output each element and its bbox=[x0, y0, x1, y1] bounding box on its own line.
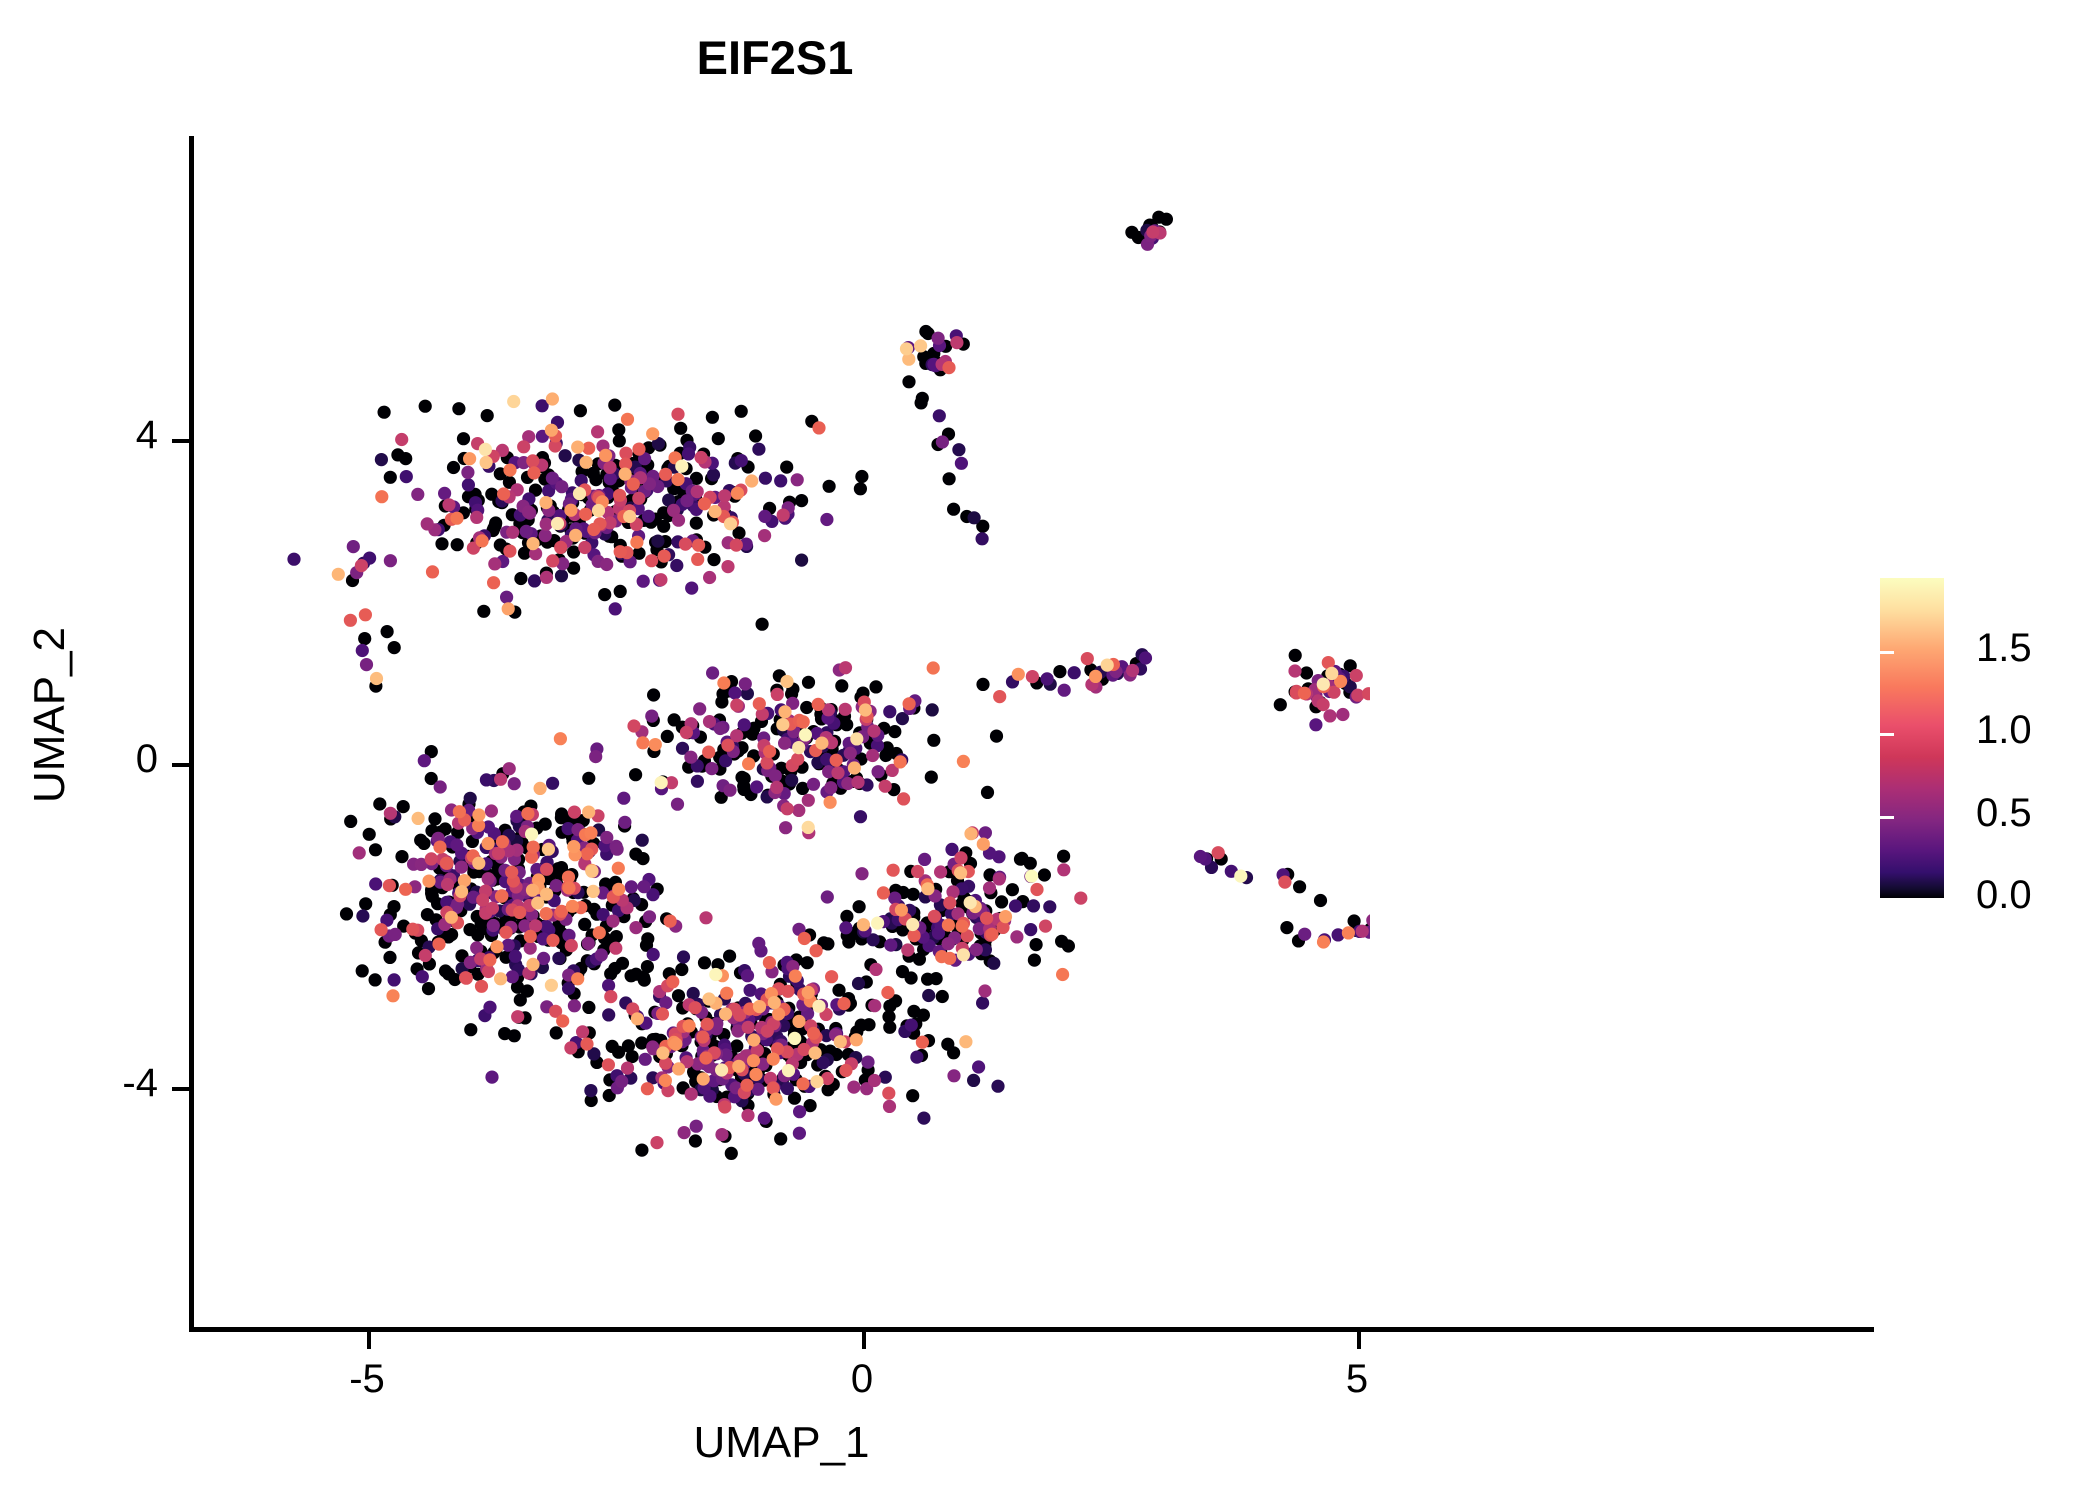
scatter-point bbox=[419, 949, 432, 962]
scatter-point bbox=[1342, 926, 1355, 939]
scatter-point bbox=[462, 478, 475, 491]
scatter-point bbox=[638, 974, 651, 987]
scatter-point bbox=[645, 710, 658, 723]
scatter-point bbox=[508, 777, 521, 790]
scatter-point bbox=[978, 984, 991, 997]
scatter-point bbox=[760, 756, 773, 769]
scatter-point bbox=[1074, 892, 1087, 905]
scatter-point bbox=[497, 487, 510, 500]
scatter-point bbox=[470, 511, 483, 524]
scatter-point bbox=[1125, 226, 1138, 239]
scatter-point bbox=[573, 487, 586, 500]
scatter-point bbox=[492, 847, 505, 860]
scatter-point bbox=[921, 973, 934, 986]
scatter-point bbox=[631, 1012, 644, 1025]
scatter-point bbox=[916, 392, 929, 405]
scatter-point bbox=[1298, 928, 1311, 941]
scatter-point bbox=[979, 826, 992, 839]
scatter-point bbox=[439, 964, 452, 977]
scatter-point bbox=[993, 872, 1006, 885]
scatter-point bbox=[612, 883, 625, 896]
scatter-point bbox=[675, 460, 688, 473]
scatter-point bbox=[503, 464, 516, 477]
scatter-point bbox=[450, 838, 463, 851]
scatter-point bbox=[745, 474, 758, 487]
scatter-point bbox=[440, 857, 453, 870]
scatter-point bbox=[539, 529, 552, 542]
scatter-point bbox=[993, 690, 1006, 703]
scatter-point bbox=[580, 1037, 593, 1050]
scatter-point bbox=[527, 841, 540, 854]
scatter-point bbox=[820, 513, 833, 526]
scatter-point bbox=[574, 404, 587, 417]
scatter-point bbox=[383, 951, 396, 964]
scatter-point bbox=[1139, 651, 1152, 664]
scatter-point bbox=[1234, 870, 1247, 883]
scatter-point bbox=[795, 554, 808, 567]
scatter-point bbox=[347, 540, 360, 553]
scatter-point bbox=[1356, 925, 1369, 938]
scatter-point bbox=[954, 866, 967, 879]
scatter-point bbox=[568, 999, 581, 1012]
scatter-point bbox=[668, 713, 681, 726]
scatter-point bbox=[550, 1026, 563, 1039]
scatter-point bbox=[901, 943, 914, 956]
scatter-point bbox=[731, 487, 744, 500]
scatter-point bbox=[824, 781, 837, 794]
scatter-point bbox=[603, 461, 616, 474]
scatter-point bbox=[458, 874, 471, 887]
scatter-point bbox=[641, 1082, 654, 1095]
scatter-point bbox=[656, 1046, 669, 1059]
scatter-point bbox=[810, 944, 823, 957]
scatter-point bbox=[657, 520, 670, 533]
scatter-point bbox=[476, 534, 489, 547]
y-tick-label: -4 bbox=[0, 1061, 158, 1106]
scatter-point bbox=[1041, 672, 1054, 685]
scatter-point bbox=[373, 797, 386, 810]
scatter-point bbox=[495, 890, 508, 903]
scatter-point bbox=[522, 505, 535, 518]
scatter-point bbox=[730, 539, 743, 552]
scatter-point bbox=[752, 937, 765, 950]
scatter-point bbox=[1317, 678, 1330, 691]
scatter-point bbox=[587, 885, 600, 898]
scatter-point bbox=[758, 510, 771, 523]
y-tick-mark bbox=[172, 439, 189, 443]
scatter-point bbox=[617, 792, 630, 805]
scatter-point bbox=[556, 1014, 569, 1027]
scatter-point bbox=[921, 882, 934, 895]
scatter-point bbox=[582, 806, 595, 819]
scatter-point bbox=[990, 730, 1003, 743]
scatter-point bbox=[774, 474, 787, 487]
scatter-point bbox=[540, 863, 553, 876]
scatter-point bbox=[360, 658, 373, 671]
scatter-point bbox=[758, 529, 771, 542]
scatter-point bbox=[954, 851, 967, 864]
scatter-point bbox=[706, 666, 719, 679]
scatter-point bbox=[490, 940, 503, 953]
scatter-point bbox=[1012, 668, 1025, 681]
scatter-point bbox=[735, 771, 748, 784]
colorbar-tick-mark bbox=[1880, 651, 1894, 654]
scatter-point bbox=[685, 582, 698, 595]
scatter-point bbox=[719, 1007, 732, 1020]
scatter-point bbox=[699, 911, 712, 924]
scatter-point bbox=[791, 473, 804, 486]
scatter-point bbox=[539, 496, 552, 509]
scatter-point bbox=[692, 539, 705, 552]
scatter-point bbox=[895, 903, 908, 916]
scatter-point bbox=[610, 930, 623, 943]
scatter-point bbox=[384, 554, 397, 567]
scatter-point bbox=[650, 1136, 663, 1149]
scatter-point bbox=[480, 456, 493, 469]
scatter-point bbox=[995, 895, 1008, 908]
scatter-point bbox=[934, 865, 947, 878]
scatter-point bbox=[911, 865, 924, 878]
scatter-point bbox=[821, 890, 834, 903]
scatter-point bbox=[987, 957, 1000, 970]
scatter-point bbox=[428, 812, 441, 825]
scatter-point bbox=[1325, 667, 1338, 680]
scatter-point bbox=[554, 732, 567, 745]
scatter-point bbox=[659, 996, 672, 1009]
scatter-point bbox=[521, 807, 534, 820]
scatter-point bbox=[629, 848, 642, 861]
scatter-point bbox=[670, 559, 683, 572]
scatter-point bbox=[955, 457, 968, 470]
scatter-point bbox=[1317, 935, 1330, 948]
scatter-point bbox=[919, 325, 932, 338]
scatter-point bbox=[999, 910, 1012, 923]
scatter-point bbox=[855, 470, 868, 483]
scatter-point bbox=[1057, 863, 1070, 876]
scatter-point bbox=[720, 987, 733, 1000]
scatter-point bbox=[611, 843, 624, 856]
colorbar-tick-label: 0.0 bbox=[1976, 873, 2032, 918]
scatter-point bbox=[1089, 670, 1102, 683]
scatter-point bbox=[964, 827, 977, 840]
scatter-point bbox=[981, 786, 994, 799]
scatter-point bbox=[546, 934, 559, 947]
scatter-point bbox=[629, 768, 642, 781]
scatter-point bbox=[510, 810, 523, 823]
scatter-point bbox=[715, 1128, 728, 1141]
scatter-point bbox=[881, 986, 894, 999]
scatter-point bbox=[1317, 698, 1330, 711]
scatter-point bbox=[636, 834, 649, 847]
scatter-point bbox=[1038, 868, 1051, 881]
scatter-point bbox=[725, 1147, 738, 1160]
scatter-point bbox=[388, 973, 401, 986]
scatter-point bbox=[778, 737, 791, 750]
scatter-point bbox=[602, 979, 615, 992]
scatter-point bbox=[879, 780, 892, 793]
scatter-point bbox=[432, 938, 445, 951]
scatter-point bbox=[604, 967, 617, 980]
scatter-point bbox=[802, 986, 815, 999]
scatter-point bbox=[566, 900, 579, 913]
scatter-point bbox=[791, 753, 804, 766]
scatter-point bbox=[952, 443, 965, 456]
scatter-point bbox=[866, 749, 879, 762]
scatter-point bbox=[698, 956, 711, 969]
scatter-point bbox=[770, 781, 783, 794]
scatter-point bbox=[763, 745, 776, 758]
scatter-point bbox=[807, 778, 820, 791]
scatter-point bbox=[792, 1015, 805, 1028]
scatter-point bbox=[616, 957, 629, 970]
x-tick-label: 5 bbox=[1277, 1357, 1437, 1402]
scatter-point bbox=[723, 950, 736, 963]
scatter-point bbox=[477, 605, 490, 618]
scatter-point bbox=[472, 808, 485, 821]
scatter-point bbox=[861, 1056, 874, 1069]
scatter-point bbox=[749, 1068, 762, 1081]
scatter-point bbox=[604, 990, 617, 1003]
scatter-point bbox=[659, 468, 672, 481]
scatter-point bbox=[1055, 935, 1068, 948]
scatter-point bbox=[708, 505, 721, 518]
scatter-point bbox=[802, 794, 815, 807]
scatter-point bbox=[528, 574, 541, 587]
scatter-point bbox=[834, 1035, 847, 1048]
scatter-point bbox=[777, 509, 790, 522]
scatter-point bbox=[406, 923, 419, 936]
scatter-point bbox=[353, 846, 366, 859]
scatter-point bbox=[848, 761, 861, 774]
scatter-point bbox=[600, 831, 613, 844]
scatter-point bbox=[718, 1100, 731, 1113]
scatter-point bbox=[517, 440, 530, 453]
scatter-point bbox=[581, 847, 594, 860]
scatter-point bbox=[1043, 900, 1056, 913]
scatter-point bbox=[487, 576, 500, 589]
scatter-point bbox=[738, 718, 751, 731]
scatter-point bbox=[724, 517, 737, 530]
scatter-point bbox=[914, 339, 927, 352]
scatter-point bbox=[897, 792, 910, 805]
scatter-point bbox=[771, 688, 784, 701]
scatter-point bbox=[807, 1027, 820, 1040]
scatter-point bbox=[671, 473, 684, 486]
scatter-point bbox=[356, 909, 369, 922]
scatter-point bbox=[795, 494, 808, 507]
scatter-point bbox=[749, 429, 762, 442]
scatter-point bbox=[400, 470, 413, 483]
scatter-point bbox=[418, 754, 431, 767]
scatter-point bbox=[540, 907, 553, 920]
scatter-point bbox=[772, 1007, 785, 1020]
scatter-point bbox=[344, 614, 357, 627]
scatter-point bbox=[1026, 670, 1039, 683]
scatter-point bbox=[835, 679, 848, 692]
scatter-point bbox=[922, 989, 935, 1002]
scatter-point bbox=[717, 676, 730, 689]
colorbar-tick-label: 1.0 bbox=[1976, 708, 2032, 753]
scatter-point bbox=[1101, 659, 1114, 672]
scatter-point bbox=[1010, 930, 1023, 943]
scatter-point bbox=[942, 937, 955, 950]
scatter-point bbox=[840, 910, 853, 923]
scatter-point bbox=[900, 342, 913, 355]
scatter-point bbox=[369, 843, 382, 856]
scatter-point bbox=[942, 361, 955, 374]
scatter-point bbox=[1057, 850, 1070, 863]
scatter-point bbox=[837, 997, 850, 1010]
scatter-point bbox=[691, 775, 704, 788]
scatter-point bbox=[977, 838, 990, 851]
scatter-point bbox=[869, 963, 882, 976]
scatter-point bbox=[796, 1077, 809, 1090]
scatter-point bbox=[571, 972, 584, 985]
scatter-point bbox=[507, 395, 520, 408]
scatter-point bbox=[399, 883, 412, 896]
scatter-point bbox=[793, 1105, 806, 1118]
scatter-point bbox=[697, 1072, 710, 1085]
scatter-point bbox=[629, 921, 642, 934]
scatter-point bbox=[564, 504, 577, 517]
scatter-point bbox=[957, 948, 970, 961]
scatter-point bbox=[782, 1064, 795, 1077]
scatter-point bbox=[625, 880, 638, 893]
scatter-point bbox=[482, 872, 495, 885]
scatter-point bbox=[752, 443, 765, 456]
scatter-point bbox=[706, 411, 719, 424]
scatter-point bbox=[632, 443, 645, 456]
scatter-point bbox=[767, 1081, 780, 1094]
scatter-point bbox=[433, 841, 446, 854]
colorbar-gradient bbox=[1880, 578, 1944, 898]
scatter-point bbox=[756, 618, 769, 631]
scatter-point bbox=[1194, 850, 1207, 863]
scatter-point bbox=[635, 1144, 648, 1157]
scatter-point bbox=[925, 771, 938, 784]
scatter-point bbox=[564, 1041, 577, 1054]
scatter-point bbox=[680, 726, 693, 739]
scatter-point bbox=[905, 971, 918, 984]
scatter-point bbox=[679, 538, 692, 551]
scatter-point bbox=[506, 526, 519, 539]
scatter-point bbox=[627, 719, 640, 732]
scatter-point bbox=[763, 956, 776, 969]
scatter-point bbox=[524, 942, 537, 955]
scatter-point bbox=[991, 1080, 1004, 1093]
scatter-point bbox=[568, 806, 581, 819]
scatter-point bbox=[696, 1030, 709, 1043]
scatter-point bbox=[287, 553, 300, 566]
scatter-point bbox=[649, 738, 662, 751]
scatter-point bbox=[487, 919, 500, 932]
scatter-point bbox=[356, 964, 369, 977]
scatter-point bbox=[844, 747, 857, 760]
scatter-point bbox=[1274, 698, 1287, 711]
colorbar-tick-mark bbox=[1880, 816, 1894, 819]
scatter-point bbox=[397, 800, 410, 813]
scatter-point bbox=[576, 1025, 589, 1038]
scatter-point bbox=[383, 879, 396, 892]
scatter-point bbox=[419, 400, 432, 413]
scatter-point bbox=[967, 1074, 980, 1087]
scatter-panel bbox=[193, 136, 1370, 1328]
scatter-point bbox=[1009, 899, 1022, 912]
scatter-point bbox=[421, 908, 434, 921]
scatter-point bbox=[584, 1084, 597, 1097]
scatter-point bbox=[780, 461, 793, 474]
scatter-point bbox=[839, 703, 852, 716]
scatter-point bbox=[599, 449, 612, 462]
scatter-point bbox=[358, 632, 371, 645]
scatter-point bbox=[776, 718, 789, 731]
scatter-point bbox=[950, 336, 963, 349]
scatter-point bbox=[702, 746, 715, 759]
scatter-point bbox=[690, 1120, 703, 1133]
scatter-point bbox=[778, 705, 791, 718]
scatter-point bbox=[416, 970, 429, 983]
scatter-point bbox=[369, 877, 382, 890]
scatter-point bbox=[785, 774, 798, 787]
x-tick-mark bbox=[1357, 1332, 1361, 1349]
scatter-point bbox=[730, 699, 743, 712]
scatter-point bbox=[942, 919, 955, 932]
colorbar-tick-mark bbox=[1866, 733, 1880, 736]
scatter-point bbox=[1028, 954, 1041, 967]
scatter-point bbox=[476, 893, 489, 906]
y-tick-label: 4 bbox=[0, 413, 158, 458]
scatter-point bbox=[980, 912, 993, 925]
scatter-point bbox=[702, 992, 715, 1005]
scatter-point bbox=[584, 826, 597, 839]
scatter-point bbox=[1288, 664, 1301, 677]
scatter-point bbox=[947, 503, 960, 516]
scatter-point bbox=[792, 804, 805, 817]
scatter-point bbox=[943, 896, 956, 909]
scatter-point bbox=[375, 923, 388, 936]
scatter-point bbox=[693, 702, 706, 715]
scatter-point bbox=[1280, 921, 1293, 934]
scatter-point bbox=[1058, 684, 1071, 697]
scatter-point bbox=[482, 965, 495, 978]
scatter-point bbox=[824, 796, 837, 809]
scatter-point bbox=[463, 452, 476, 465]
scatter-point bbox=[496, 835, 509, 848]
scatter-point bbox=[1314, 894, 1327, 907]
scatter-point bbox=[565, 939, 578, 952]
scatter-point bbox=[384, 807, 397, 820]
scatter-point bbox=[854, 810, 867, 823]
scatter-point bbox=[985, 928, 998, 941]
scatter-point bbox=[655, 776, 668, 789]
scatter-point bbox=[475, 980, 488, 993]
scatter-point bbox=[802, 676, 815, 689]
scatter-point bbox=[540, 518, 553, 531]
scatter-point bbox=[514, 572, 527, 585]
scatter-point bbox=[970, 943, 983, 956]
scatter-point bbox=[910, 1051, 923, 1064]
scatter-point bbox=[747, 1054, 760, 1067]
scatter-point bbox=[758, 1112, 771, 1125]
scatter-point bbox=[855, 867, 868, 880]
scatter-point bbox=[578, 541, 591, 554]
scatter-point bbox=[705, 762, 718, 775]
y-tick-label: 0 bbox=[0, 737, 158, 782]
scatter-point bbox=[721, 739, 734, 752]
scatter-point bbox=[483, 1001, 496, 1014]
scatter-point bbox=[877, 886, 890, 899]
scatter-point bbox=[883, 1100, 896, 1113]
